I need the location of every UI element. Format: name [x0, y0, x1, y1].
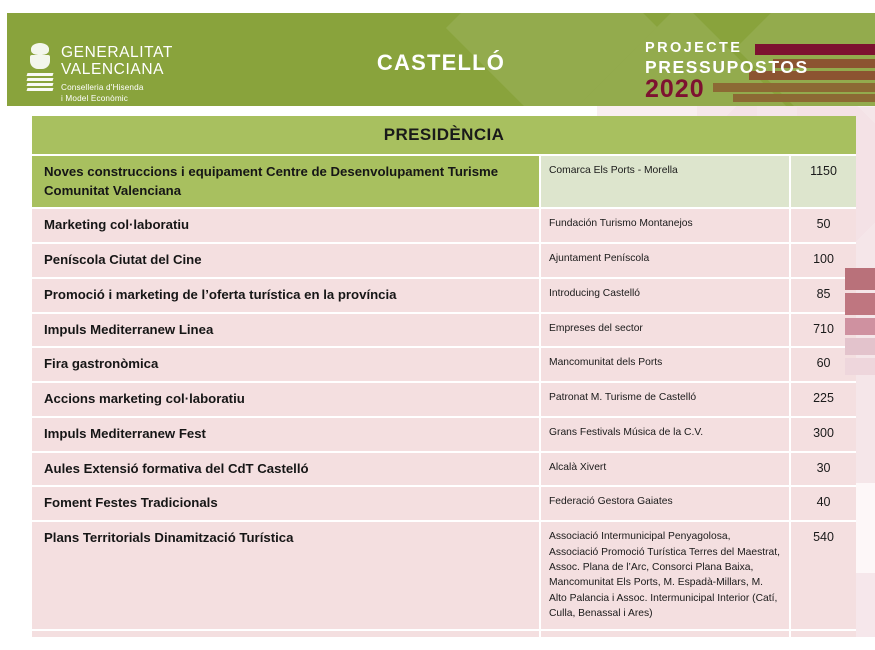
slide-canvas: GENERALITAT VALENCIANA Conselleria d'His…	[7, 13, 875, 637]
cell-amount: 225	[791, 383, 856, 418]
budget-project-logo: PROJECTE PRESSUPOSTOS 2020	[645, 41, 875, 101]
budget-logo-line-2: PRESSUPOSTOS	[645, 59, 809, 77]
table-title-row: PRESIDÈNCIA	[32, 116, 856, 156]
cell-project-name: Marketing col·laboratiu	[32, 209, 541, 244]
cell-entity-name: Mancomunitat dels Ports	[541, 348, 791, 383]
logo-subline-2: i Model Econòmic	[61, 93, 173, 104]
table-row: Foment Festes TradicionalsFederació Gest…	[32, 487, 856, 522]
table-row: Accions marketing col·laboratiuPatronat …	[32, 383, 856, 418]
cell-project-name: Noves construccions i equipament Centre …	[32, 156, 541, 209]
edge-swatch	[845, 358, 875, 375]
table-row: Adaptació Recursos TurísticsAjuntament T…	[32, 631, 856, 637]
cell-amount: 50	[791, 209, 856, 244]
cell-project-name: Aules Extensió formativa del CdT Castell…	[32, 453, 541, 488]
cell-project-name: Fira gastronòmica	[32, 348, 541, 383]
cell-project-name: Plans Territorials Dinamització Turístic…	[32, 522, 541, 631]
cell-amount: 50* Milers d'Euros	[791, 631, 856, 637]
cell-entity-name: Comarca Els Ports - Morella	[541, 156, 791, 209]
cell-entity-name: Associació Intermunicipal Penyagolosa, A…	[541, 522, 791, 631]
amount-value: 40	[817, 495, 831, 509]
edge-swatch	[845, 268, 875, 290]
amount-value: 1150	[810, 164, 837, 178]
cell-entity-name: Ajuntament Peníscola	[541, 244, 791, 279]
cell-entity-name: Ajuntament Tírig	[541, 631, 791, 637]
table-row: Impuls Mediterranew LineaEmpreses del se…	[32, 314, 856, 349]
amount-value: 710	[813, 322, 834, 336]
cell-entity-name: Grans Festivals Música de la C.V.	[541, 418, 791, 453]
table-row: Aules Extensió formativa del CdT Castell…	[32, 453, 856, 488]
cell-entity-name: Federació Gestora Gaiates	[541, 487, 791, 522]
table-title: PRESIDÈNCIA	[32, 116, 856, 156]
cell-amount: 40	[791, 487, 856, 522]
amount-value: 85	[817, 287, 831, 301]
header-band: GENERALITAT VALENCIANA Conselleria d'His…	[7, 13, 875, 106]
cell-project-name: Accions marketing col·laboratiu	[32, 383, 541, 418]
amount-value: 50	[817, 217, 831, 231]
cell-amount: 1150	[791, 156, 856, 209]
amount-value: 225	[813, 391, 834, 405]
table-row: Marketing col·laboratiuFundación Turismo…	[32, 209, 856, 244]
amount-value: 300	[813, 426, 834, 440]
cell-project-name: Adaptació Recursos Turístics	[32, 631, 541, 637]
table-row: Impuls Mediterranew FestGrans Festivals …	[32, 418, 856, 453]
amount-value: 100	[813, 252, 834, 266]
budget-logo-line-1: PROJECTE	[645, 41, 809, 56]
edge-swatch	[845, 338, 875, 355]
page-number: 16	[15, 636, 28, 637]
cell-entity-name: Empreses del sector	[541, 314, 791, 349]
cell-project-name: Foment Festes Tradicionals	[32, 487, 541, 522]
amount-value: 30	[817, 461, 831, 475]
table-row: Promoció i marketing de l’oferta turísti…	[32, 279, 856, 314]
cell-project-name: Impuls Mediterranew Linea	[32, 314, 541, 349]
table-row: Noves construccions i equipament Centre …	[32, 156, 856, 209]
logo-subline-1: Conselleria d'Hisenda	[61, 82, 173, 93]
cell-project-name: Promoció i marketing de l’oferta turísti…	[32, 279, 541, 314]
cell-amount: 300	[791, 418, 856, 453]
cell-project-name: Impuls Mediterranew Fest	[32, 418, 541, 453]
cell-entity-name: Alcalà Xivert	[541, 453, 791, 488]
table-row: Fira gastronòmicaMancomunitat dels Ports…	[32, 348, 856, 383]
cell-amount: 30	[791, 453, 856, 488]
amount-value: 60	[817, 356, 831, 370]
budget-table: PRESIDÈNCIA Noves construccions i equipa…	[32, 116, 856, 637]
cell-entity-name: Fundación Turismo Montanejos	[541, 209, 791, 244]
cell-entity-name: Introducing Castelló	[541, 279, 791, 314]
edge-swatch	[845, 318, 875, 335]
edge-swatch	[845, 293, 875, 315]
budget-logo-year: 2020	[645, 77, 809, 102]
cell-entity-name: Patronat M. Turisme de Castelló	[541, 383, 791, 418]
table-row: Peníscola Ciutat del CineAjuntament Pení…	[32, 244, 856, 279]
amount-value: 540	[813, 530, 834, 544]
table-row: Plans Territorials Dinamització Turístic…	[32, 522, 856, 631]
cell-project-name: Peníscola Ciutat del Cine	[32, 244, 541, 279]
cell-amount: 540	[791, 522, 856, 631]
table-body: Noves construccions i equipament Centre …	[32, 156, 856, 637]
